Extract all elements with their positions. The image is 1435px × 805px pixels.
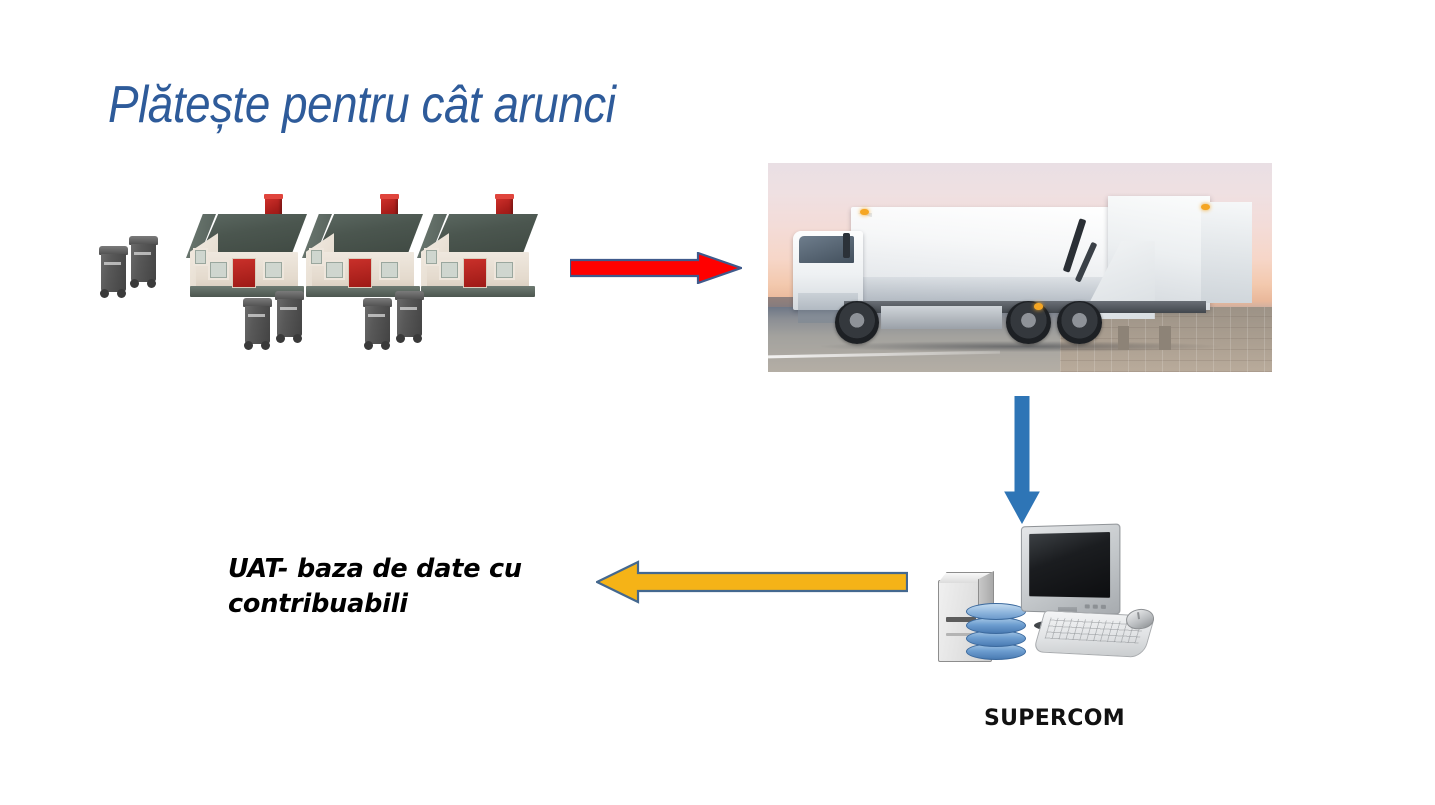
house-icon bbox=[415, 196, 541, 301]
garbage-truck-photo bbox=[768, 163, 1272, 372]
uat-label: UAT- baza de date cu contribuabili bbox=[228, 552, 558, 622]
computer-and-database-illustration bbox=[930, 525, 1150, 675]
wheelie-bin-icon bbox=[100, 246, 127, 298]
supercom-label: SUPERCOM bbox=[984, 706, 1125, 731]
wheelie-bin-icon bbox=[130, 236, 157, 288]
truck-vehicle bbox=[793, 192, 1257, 355]
wheelie-bin-icon bbox=[396, 291, 423, 343]
house-icon bbox=[300, 196, 426, 301]
house-icon bbox=[184, 196, 310, 301]
database-icon bbox=[966, 603, 1024, 659]
page-title: Plătește pentru cât arunci bbox=[108, 78, 615, 133]
arrow-truck-to-computer bbox=[1004, 396, 1040, 524]
arrow-computer-to-uat bbox=[596, 560, 908, 604]
wheelie-bin-icon bbox=[244, 298, 271, 350]
slide-canvas: Plătește pentru cât arunci bbox=[0, 0, 1435, 805]
wheelie-bin-icon bbox=[364, 298, 391, 350]
wheelie-bin-icon bbox=[276, 291, 303, 343]
arrow-houses-to-truck bbox=[570, 252, 742, 284]
houses-and-bins-illustration bbox=[92, 188, 562, 368]
